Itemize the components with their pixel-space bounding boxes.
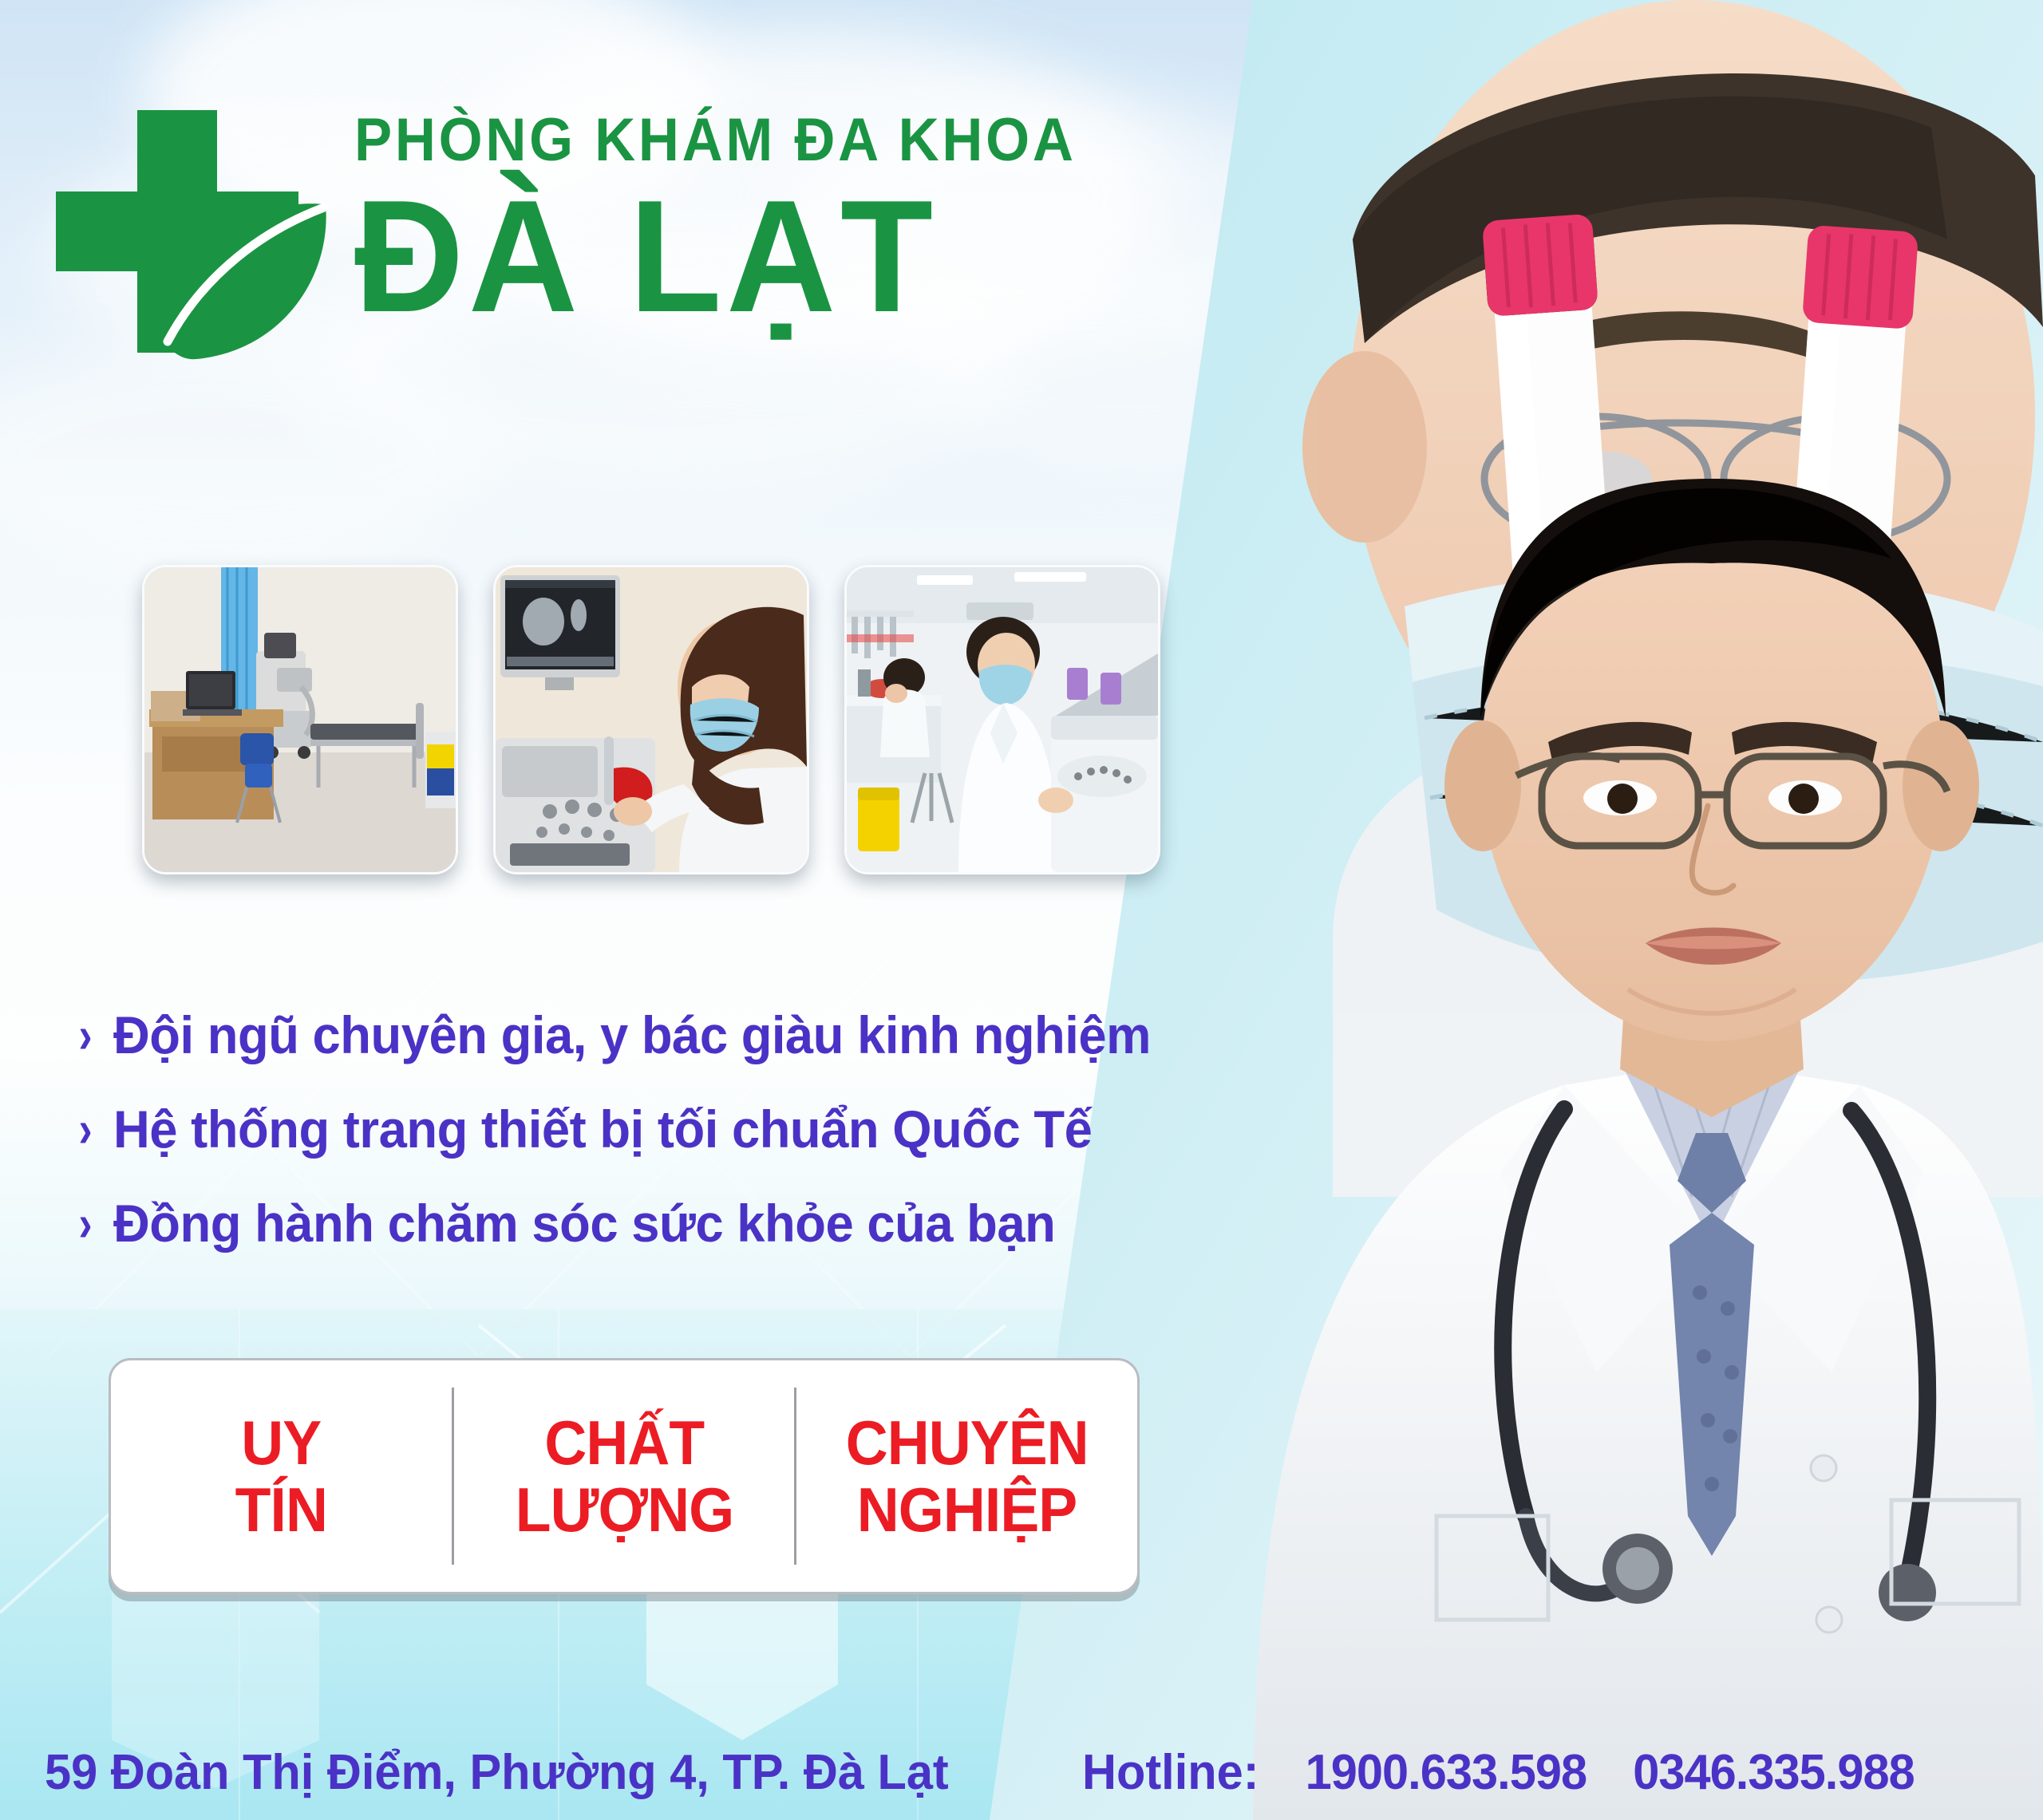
exam-room-image (144, 567, 456, 872)
chevron-right-icon: › (71, 1103, 101, 1155)
value-badge-uy-tin: UY TÍN (111, 1360, 452, 1592)
feature-bullet-text: Hệ thống trang thiết bị tối chuẩn Quốc T… (113, 1099, 1092, 1159)
value-badge-line1: UY (241, 1409, 321, 1476)
value-badge-line2: NGHIỆP (857, 1476, 1077, 1543)
value-badge-line2: LƯỢNG (515, 1476, 733, 1543)
exam-room-photo[interactable] (142, 565, 458, 874)
laboratory-image (847, 567, 1158, 872)
hotline-block: Hotline: 1900.633.598 0346.335.988 (1082, 1744, 1915, 1801)
value-proposition-box: UY TÍN CHẤT LƯỢNG CHUYÊN NGHIỆP (109, 1358, 1140, 1594)
ultrasound-scan-image (496, 567, 807, 872)
value-badge-chat-luong: CHẤT LƯỢNG (454, 1360, 795, 1592)
brand-logo-block: PHÒNG KHÁM ĐA KHOA ĐÀ LẠT (48, 96, 1131, 399)
clinic-advertisement-banner: PHÒNG KHÁM ĐA KHOA ĐÀ LẠT (0, 0, 2043, 1820)
ultrasound-scan-photo[interactable] (493, 565, 809, 874)
clinic-address: 59 Đoàn Thị Điểm, Phường 4, TP. Đà Lạt (45, 1744, 949, 1801)
hotline-number-secondary[interactable]: 0346.335.988 (1633, 1745, 1915, 1800)
feature-bullet-text: Đồng hành chăm sóc sức khỏe của bạn (113, 1193, 1055, 1253)
medical-cross-leaf-logo-icon (48, 96, 343, 399)
feature-bullet-item: › Hệ thống trang thiết bị tối chuẩn Quốc… (67, 1082, 1194, 1176)
feature-bullet-item: › Đồng hành chăm sóc sức khỏe của bạn (67, 1176, 1194, 1270)
facility-photo-gallery (142, 565, 1160, 874)
laboratory-photo[interactable] (844, 565, 1160, 874)
hotline-number-primary[interactable]: 1900.633.598 (1306, 1745, 1587, 1800)
brand-name: ĐÀ LẠT (354, 174, 1092, 340)
brand-logo-text: PHÒNG KHÁM ĐA KHOA ĐÀ LẠT (354, 96, 1131, 340)
feature-bullet-text: Đội ngũ chuyên gia, y bác giàu kinh nghi… (113, 1005, 1151, 1065)
feature-bullet-list: › Đội ngũ chuyên gia, y bác giàu kinh ng… (67, 988, 1194, 1270)
value-badge-line1: CHẤT (544, 1409, 704, 1476)
brand-subtitle: PHÒNG KHÁM ĐA KHOA (354, 110, 1077, 171)
chevron-right-icon: › (71, 1009, 101, 1060)
feature-bullet-item: › Đội ngũ chuyên gia, y bác giàu kinh ng… (67, 988, 1194, 1082)
doctor-portrait (990, 0, 2043, 1820)
value-badge-line1: CHUYÊN (846, 1409, 1089, 1476)
value-badge-line2: TÍN (235, 1476, 327, 1543)
value-badge-chuyen-nghiep: CHUYÊN NGHIỆP (796, 1360, 1137, 1592)
hotline-label: Hotline: (1082, 1745, 1259, 1800)
chevron-right-icon: › (71, 1198, 101, 1249)
